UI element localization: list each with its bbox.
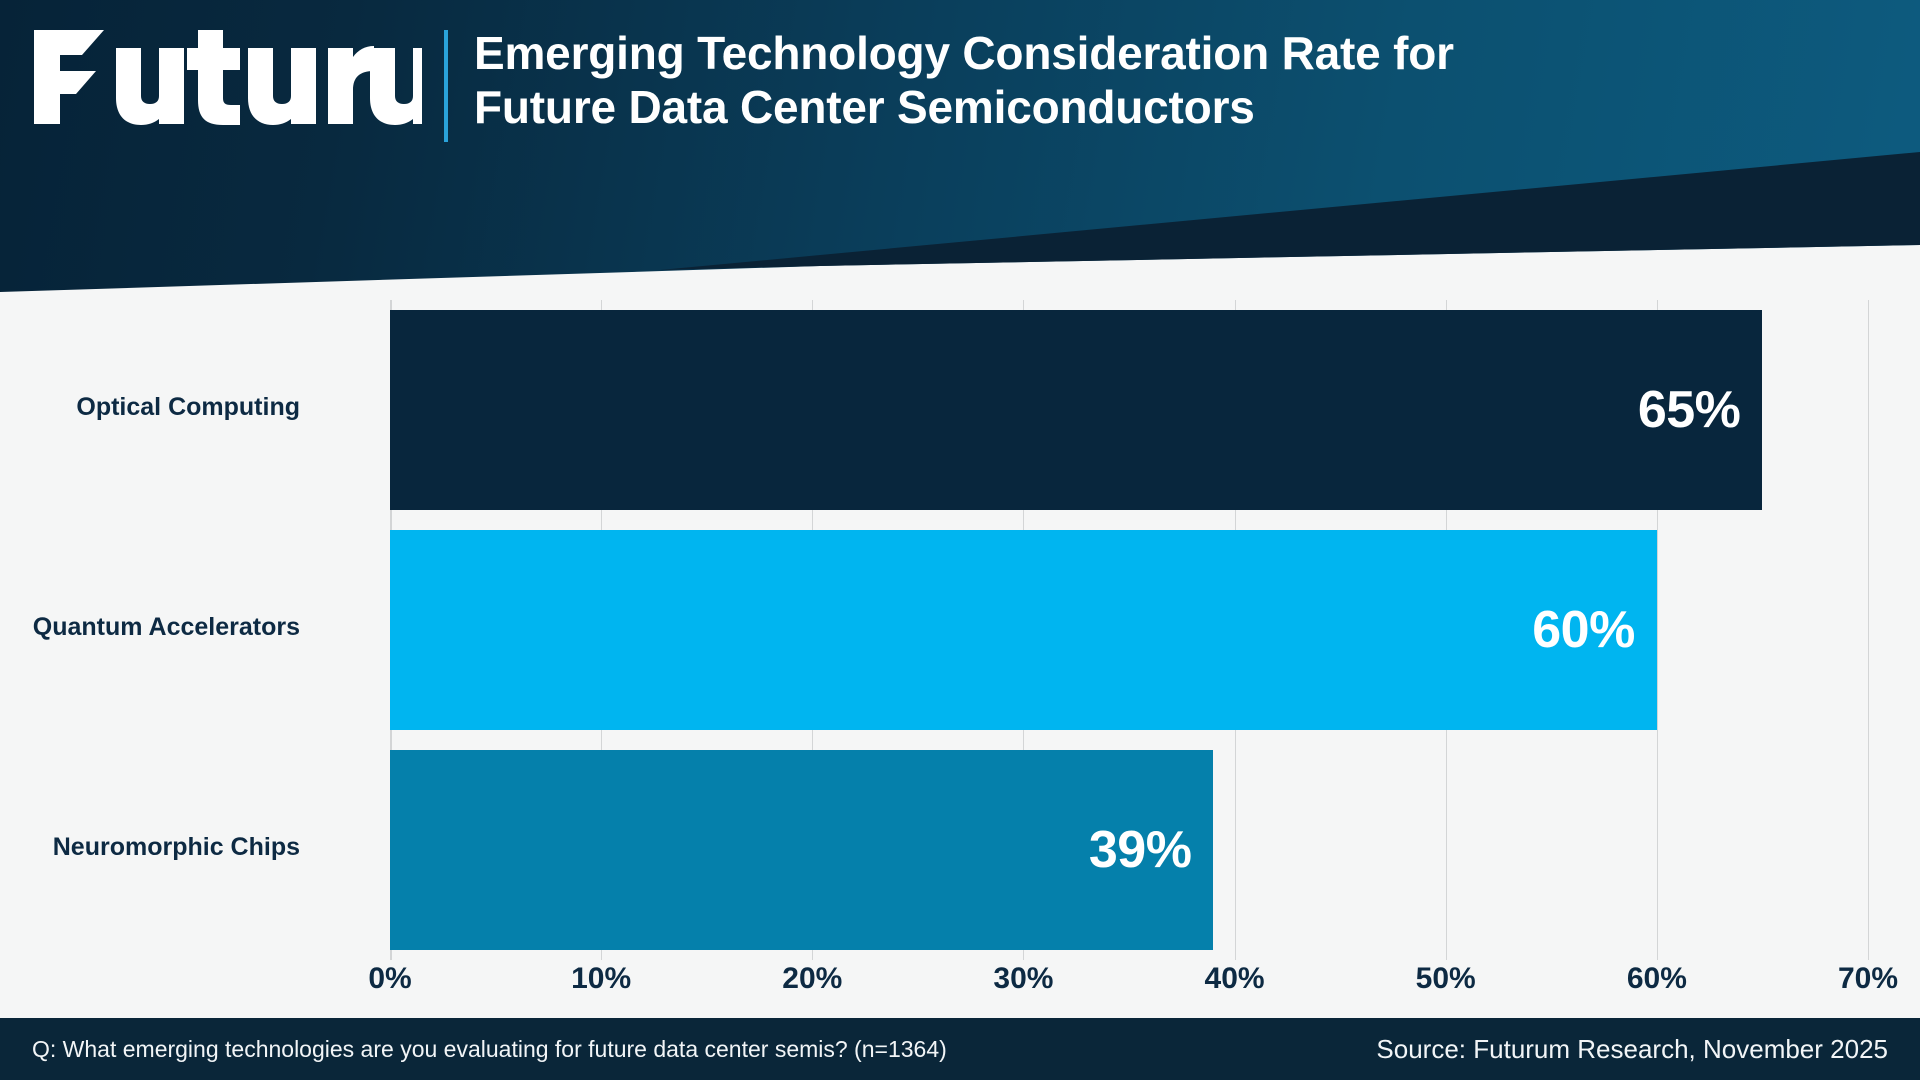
y-axis-labels: Optical ComputingQuantum AcceleratorsNeu…: [0, 300, 368, 960]
bar-row: 39%: [390, 750, 1213, 950]
bar[interactable]: 60%: [390, 530, 1657, 730]
x-tick-label: 60%: [1627, 962, 1687, 996]
footer-bar: Q: What emerging technologies are you ev…: [0, 1018, 1920, 1080]
title-line-2: Future Data Center Semiconductors: [474, 80, 1874, 134]
plot-area: 65%60%39%: [390, 300, 1868, 960]
footer-question: Q: What emerging technologies are you ev…: [32, 1036, 947, 1063]
bar-row: 60%: [390, 530, 1657, 730]
bar-value-label: 39%: [1089, 820, 1192, 880]
title-divider: [444, 30, 448, 142]
category-label: Neuromorphic Chips: [0, 833, 300, 862]
category-label: Optical Computing: [0, 393, 300, 422]
x-tick-label: 20%: [782, 962, 842, 996]
chart-canvas: Emerging Technology Consideration Rate f…: [0, 0, 1920, 1080]
bar[interactable]: 65%: [390, 310, 1762, 510]
x-tick-label: 70%: [1838, 962, 1898, 996]
title-line-1: Emerging Technology Consideration Rate f…: [474, 27, 1454, 79]
futurum-logo: [32, 26, 422, 126]
category-label: Quantum Accelerators: [0, 613, 300, 642]
page-title: Emerging Technology Consideration Rate f…: [474, 26, 1874, 135]
bar[interactable]: 39%: [390, 750, 1213, 950]
bar-value-label: 60%: [1532, 600, 1635, 660]
x-axis-ticks: 0%10%20%30%40%50%60%70%: [390, 962, 1868, 1012]
footer-source: Source: Futurum Research, November 2025: [1376, 1034, 1888, 1065]
header-banner: Emerging Technology Consideration Rate f…: [0, 0, 1920, 300]
x-tick-label: 40%: [1205, 962, 1265, 996]
x-tick-label: 10%: [571, 962, 631, 996]
x-tick-label: 30%: [993, 962, 1053, 996]
bar-value-label: 65%: [1638, 380, 1741, 440]
x-tick-label: 50%: [1416, 962, 1476, 996]
bar-row: 65%: [390, 310, 1762, 510]
gridline: [1868, 300, 1869, 960]
bar-series: 65%60%39%: [390, 300, 1868, 960]
x-tick-label: 0%: [368, 962, 411, 996]
